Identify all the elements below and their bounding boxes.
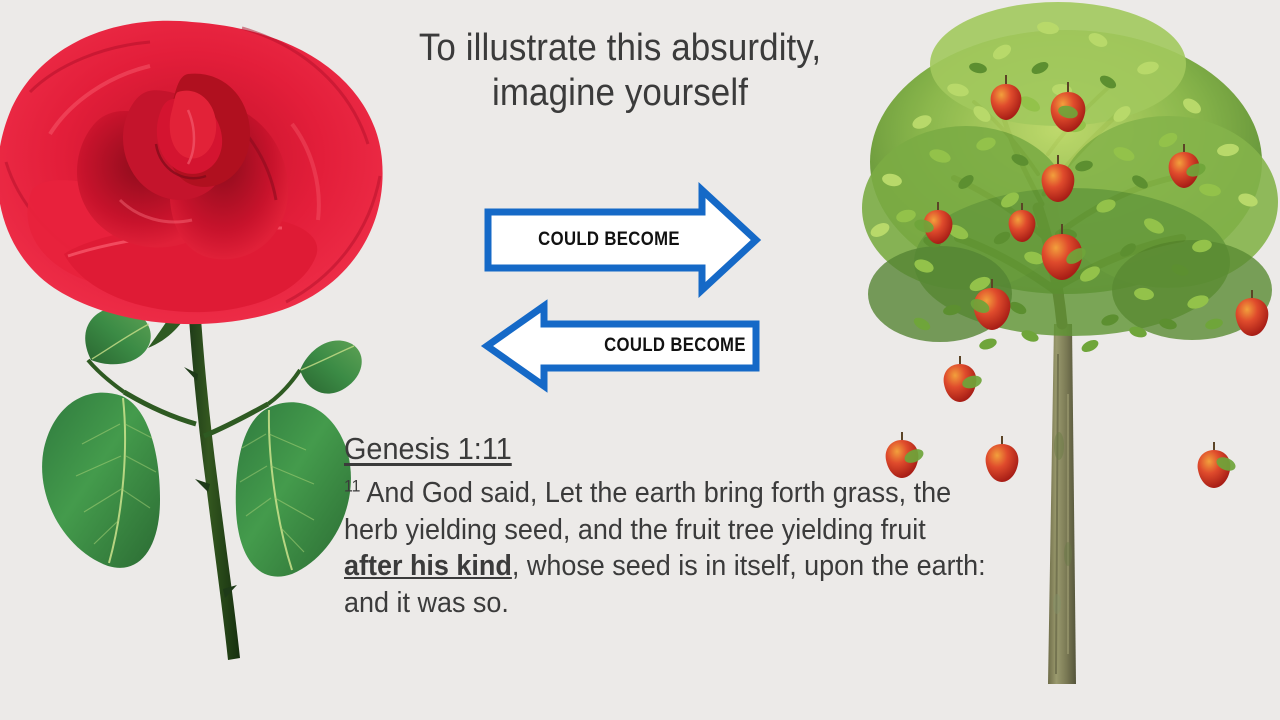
scripture-reference: Genesis 1:11 [344, 432, 512, 466]
could-become-left-arrow: COULD BECOME [482, 302, 760, 390]
verse-number: 11 [344, 476, 360, 495]
slide-canvas: To illustrate this absurdity, imagine yo… [0, 0, 1280, 720]
scripture-text: 11 And God said, Let the earth bring for… [344, 475, 986, 621]
verse-emphasis: after his kind [344, 550, 512, 582]
slide-title: To illustrate this absurdity, imagine yo… [362, 26, 877, 116]
scripture-block: Genesis 1:11 11 And God said, Let the ea… [344, 432, 986, 621]
could-become-right-arrow: COULD BECOME [484, 186, 760, 294]
red-rose-image [0, 4, 392, 674]
verse-text-part1: And God said, Let the earth bring forth … [344, 477, 951, 546]
